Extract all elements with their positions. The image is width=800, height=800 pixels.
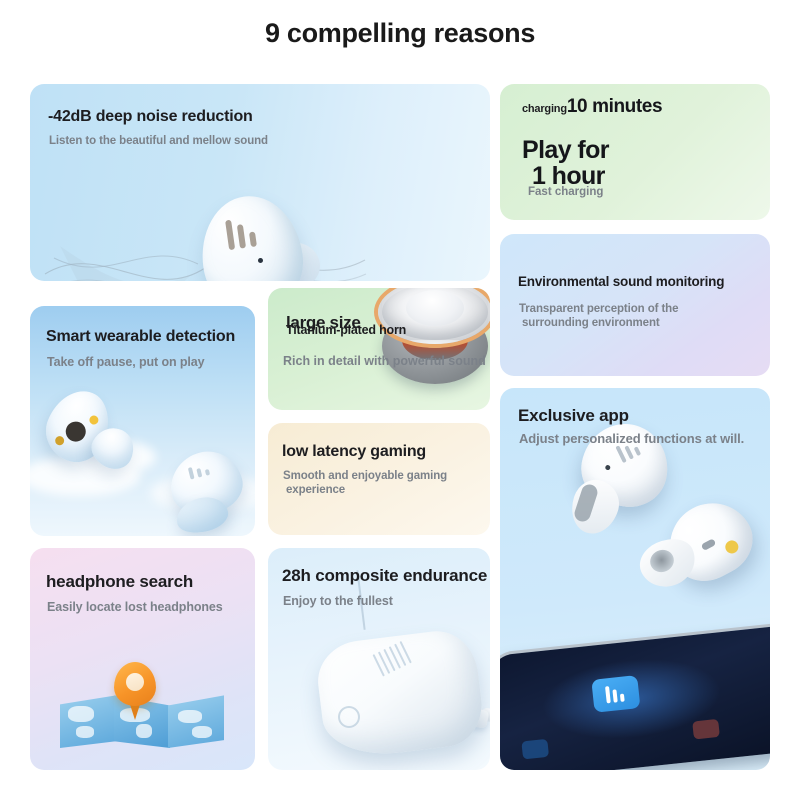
microphone-hole-icon — [258, 258, 263, 263]
card-title: Smart wearable detection — [50, 328, 235, 346]
page-title: 9 compelling reasons — [0, 18, 800, 49]
brand-logo-icon — [225, 216, 263, 250]
feature-card-ambient-sound[interactable]: Environmental sound monitoring Transpare… — [500, 234, 770, 376]
card-subtitle: Take off pause, put on play — [50, 355, 235, 370]
card-subtitle: Easily locate lost headphones — [50, 600, 223, 615]
feature-card-large-driver[interactable]: large size Titanium-plated horn Rich in … — [268, 288, 490, 410]
phone-dock-icon — [521, 739, 549, 760]
product-feature-poster: 9 compelling reasons -42dB deep noise re… — [0, 0, 800, 800]
feature-card-headphone-search[interactable]: headphone search Easily locate lost head… — [30, 548, 255, 770]
smartphone-image — [500, 624, 770, 770]
exclusive-app-text: Exclusive app Adjust personalized functi… — [522, 406, 744, 447]
card-subtitle: Fast charging — [522, 186, 754, 198]
earbud-image — [202, 196, 310, 281]
card-subtitle: Rich in detail with powerful sound — [286, 354, 486, 369]
card-subtitle: Adjust personalized functions at will. — [522, 431, 744, 447]
feature-card-exclusive-app[interactable]: Exclusive app Adjust personalized functi… — [500, 388, 770, 770]
card-title: headphone search — [50, 572, 223, 591]
card-subtitle: Listen to the beautiful and mellow sound — [52, 135, 268, 149]
noise-reduction-text: -42dB deep noise reduction Listen to the… — [52, 108, 268, 149]
card-title-overlay: Titanium-plated horn — [286, 323, 486, 337]
map-pin-icon — [114, 662, 156, 720]
card-title: Exclusive app — [522, 406, 744, 425]
pin-hole — [126, 673, 144, 691]
charging-label: charging — [522, 103, 567, 115]
low-latency-text: low latency gaming Smooth and enjoyable … — [286, 443, 490, 498]
map-image — [58, 660, 226, 748]
ambient-sound-text: Environmental sound monitoring Transpare… — [522, 274, 742, 331]
charging-time-row: charging 10 minutes — [522, 96, 754, 118]
card-title: 28h composite endurance — [286, 566, 487, 585]
card-subtitle: Enjoy to the fullest — [286, 594, 487, 609]
wearable-detection-text: Smart wearable detection Take off pause,… — [50, 328, 235, 370]
headphone-search-text: headphone search Easily locate lost head… — [50, 572, 223, 615]
case-button-icon — [338, 706, 360, 728]
phone-dock-icon — [692, 719, 720, 740]
app-icon[interactable] — [591, 675, 640, 713]
fast-charging-text: charging 10 minutes Play for 1 hour Fast… — [522, 96, 754, 198]
feature-card-fast-charging[interactable]: charging 10 minutes Play for 1 hour Fast… — [500, 84, 770, 220]
card-title: Environmental sound monitoring — [522, 274, 742, 289]
playtime-line-1: Play for — [522, 138, 754, 164]
large-driver-text: large size Titanium-plated horn Rich in … — [286, 314, 486, 369]
feature-card-battery-endurance[interactable]: 28h composite endurance Enjoy to the ful… — [268, 548, 490, 770]
charging-duration: 10 minutes — [567, 96, 662, 118]
map-fold — [60, 692, 116, 748]
card-subtitle: Smooth and enjoyable gaming experience — [286, 470, 490, 498]
card-title: -42dB deep noise reduction — [52, 108, 268, 126]
map-fold — [168, 692, 224, 748]
feature-card-noise-reduction[interactable]: -42dB deep noise reduction Listen to the… — [30, 84, 490, 281]
feature-card-wearable-detection[interactable]: Smart wearable detection Take off pause,… — [30, 306, 255, 536]
card-title: low latency gaming — [286, 443, 490, 461]
card-subtitle: Transparent perception of the surroundin… — [522, 303, 742, 331]
feature-card-low-latency-gaming[interactable]: low latency gaming Smooth and enjoyable … — [268, 423, 490, 535]
endurance-text: 28h composite endurance Enjoy to the ful… — [286, 566, 487, 609]
